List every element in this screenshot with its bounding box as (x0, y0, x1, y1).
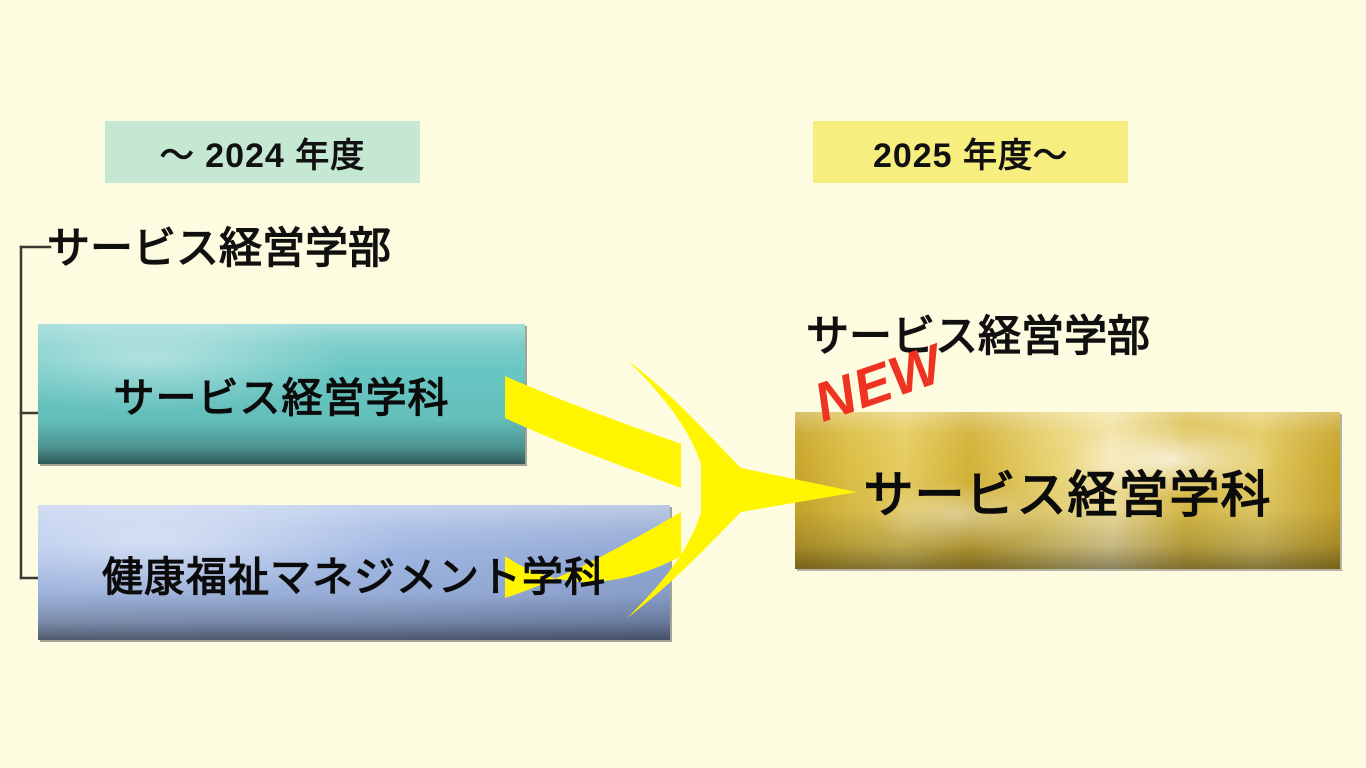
faculty-name-new: サービス経営学部 (806, 302, 1150, 364)
period-label-old: 〜 2024 年度 (105, 121, 420, 183)
dept-box-health-old: 健康福祉マネジメント学科 (38, 505, 670, 640)
dept-label-health-old: 健康福祉マネジメント学科 (102, 543, 606, 603)
dept-label-service-old: サービス経営学科 (114, 364, 450, 424)
faculty-name-old: サービス経営学部 (47, 214, 391, 276)
period-label-new: 2025 年度〜 (813, 121, 1128, 183)
reorganization-diagram: 〜 2024 年度 サービス経営学部 サービス経営学科 健康福祉マネジメント学科… (0, 0, 1366, 768)
dept-box-service-new: サービス経営学科 (795, 412, 1340, 569)
dept-label-service-new: サービス経営学科 (864, 455, 1272, 527)
dept-box-service-old: サービス経営学科 (38, 324, 525, 464)
